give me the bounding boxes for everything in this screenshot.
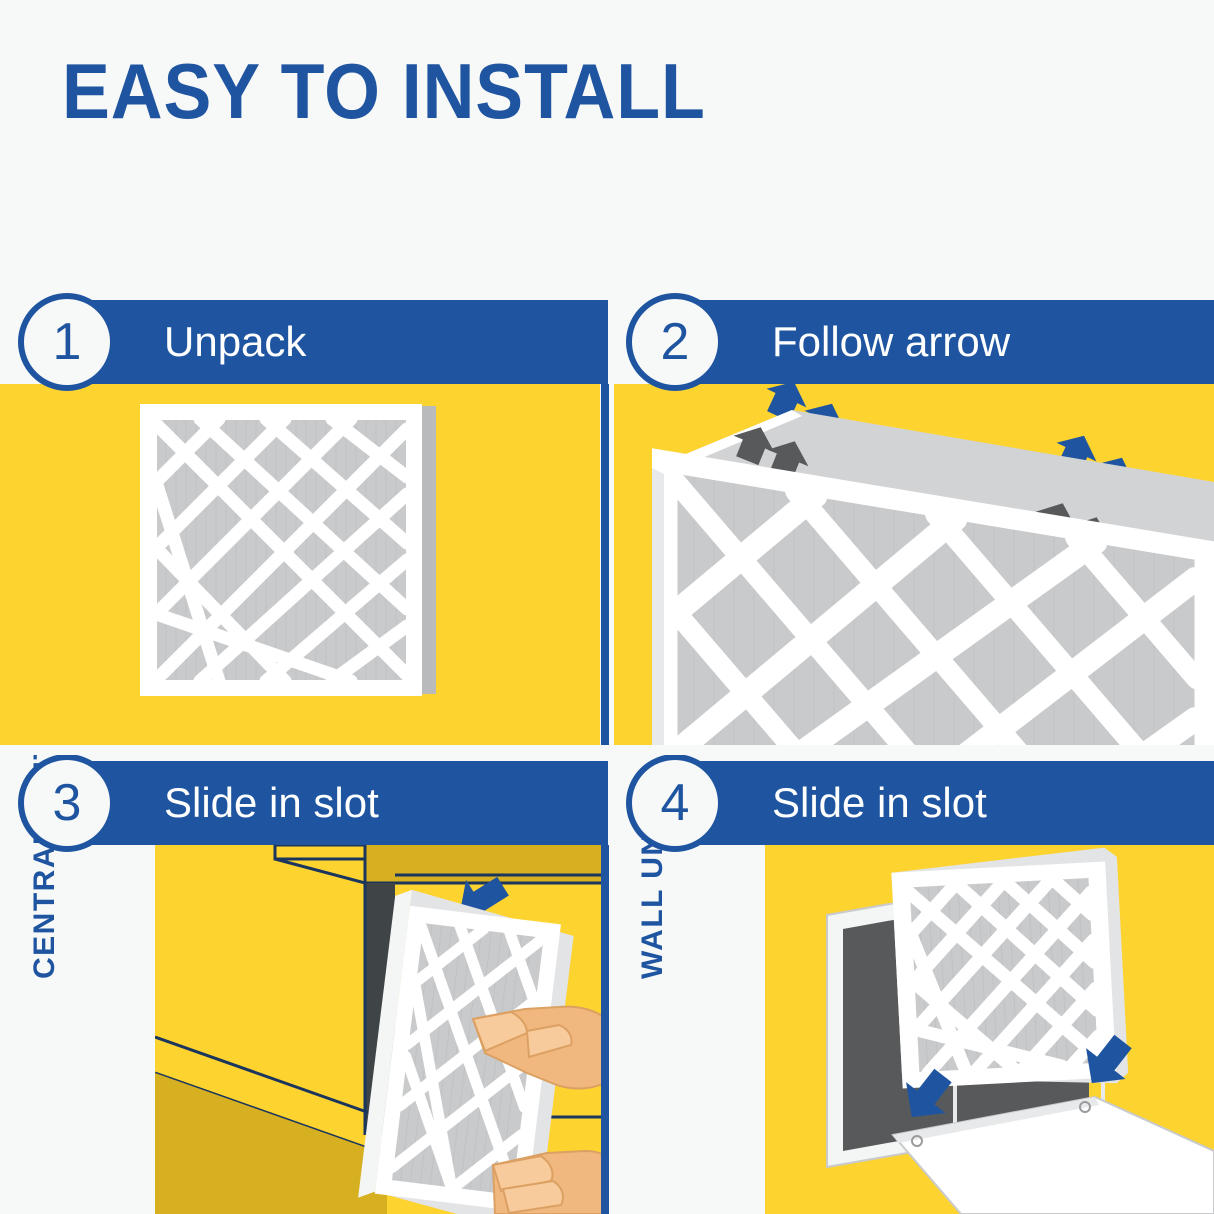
step-2-label: Follow arrow	[772, 318, 1010, 366]
step-1-label: Unpack	[164, 318, 306, 366]
wall-unit-graphic	[765, 845, 1214, 1214]
step-panel-3: CENTRAL UNIT Slide in slot 3	[0, 755, 608, 1214]
step-3-badge: 3	[18, 755, 116, 852]
step-panel-1: Unpack 1	[0, 290, 608, 745]
flat-filter-graphic	[0, 384, 600, 745]
step-2-number: 2	[661, 312, 690, 372]
step-4-illustration	[765, 845, 1214, 1214]
central-unit-graphic	[155, 845, 608, 1214]
step-4-number: 4	[661, 773, 690, 833]
step-panel-2: Follow arrow 2	[614, 290, 1214, 745]
infographic-root: EASY TO INSTALL	[0, 0, 1214, 1214]
page-title: EASY TO INSTALL	[62, 52, 706, 130]
panel-divider-vertical-top	[601, 384, 609, 745]
panel-divider-vertical-bottom	[601, 845, 609, 1214]
step-3-number: 3	[53, 773, 82, 833]
step-4-label: Slide in slot	[772, 779, 987, 827]
hand-lower	[493, 1151, 608, 1214]
step-1-number: 1	[53, 312, 82, 372]
step-2-badge: 2	[626, 293, 724, 391]
step-3-illustration	[155, 845, 608, 1214]
step-1-illustration	[0, 384, 600, 745]
step-1-badge: 1	[18, 293, 116, 391]
step-4-badge: 4	[626, 755, 724, 852]
step-2-illustration	[614, 384, 1214, 745]
step-panel-4: WALL UNIT Slide in slot 4	[614, 755, 1214, 1214]
step-3-label: Slide in slot	[164, 779, 379, 827]
step-1-header	[52, 300, 608, 384]
angled-filter-graphic	[614, 384, 1214, 745]
